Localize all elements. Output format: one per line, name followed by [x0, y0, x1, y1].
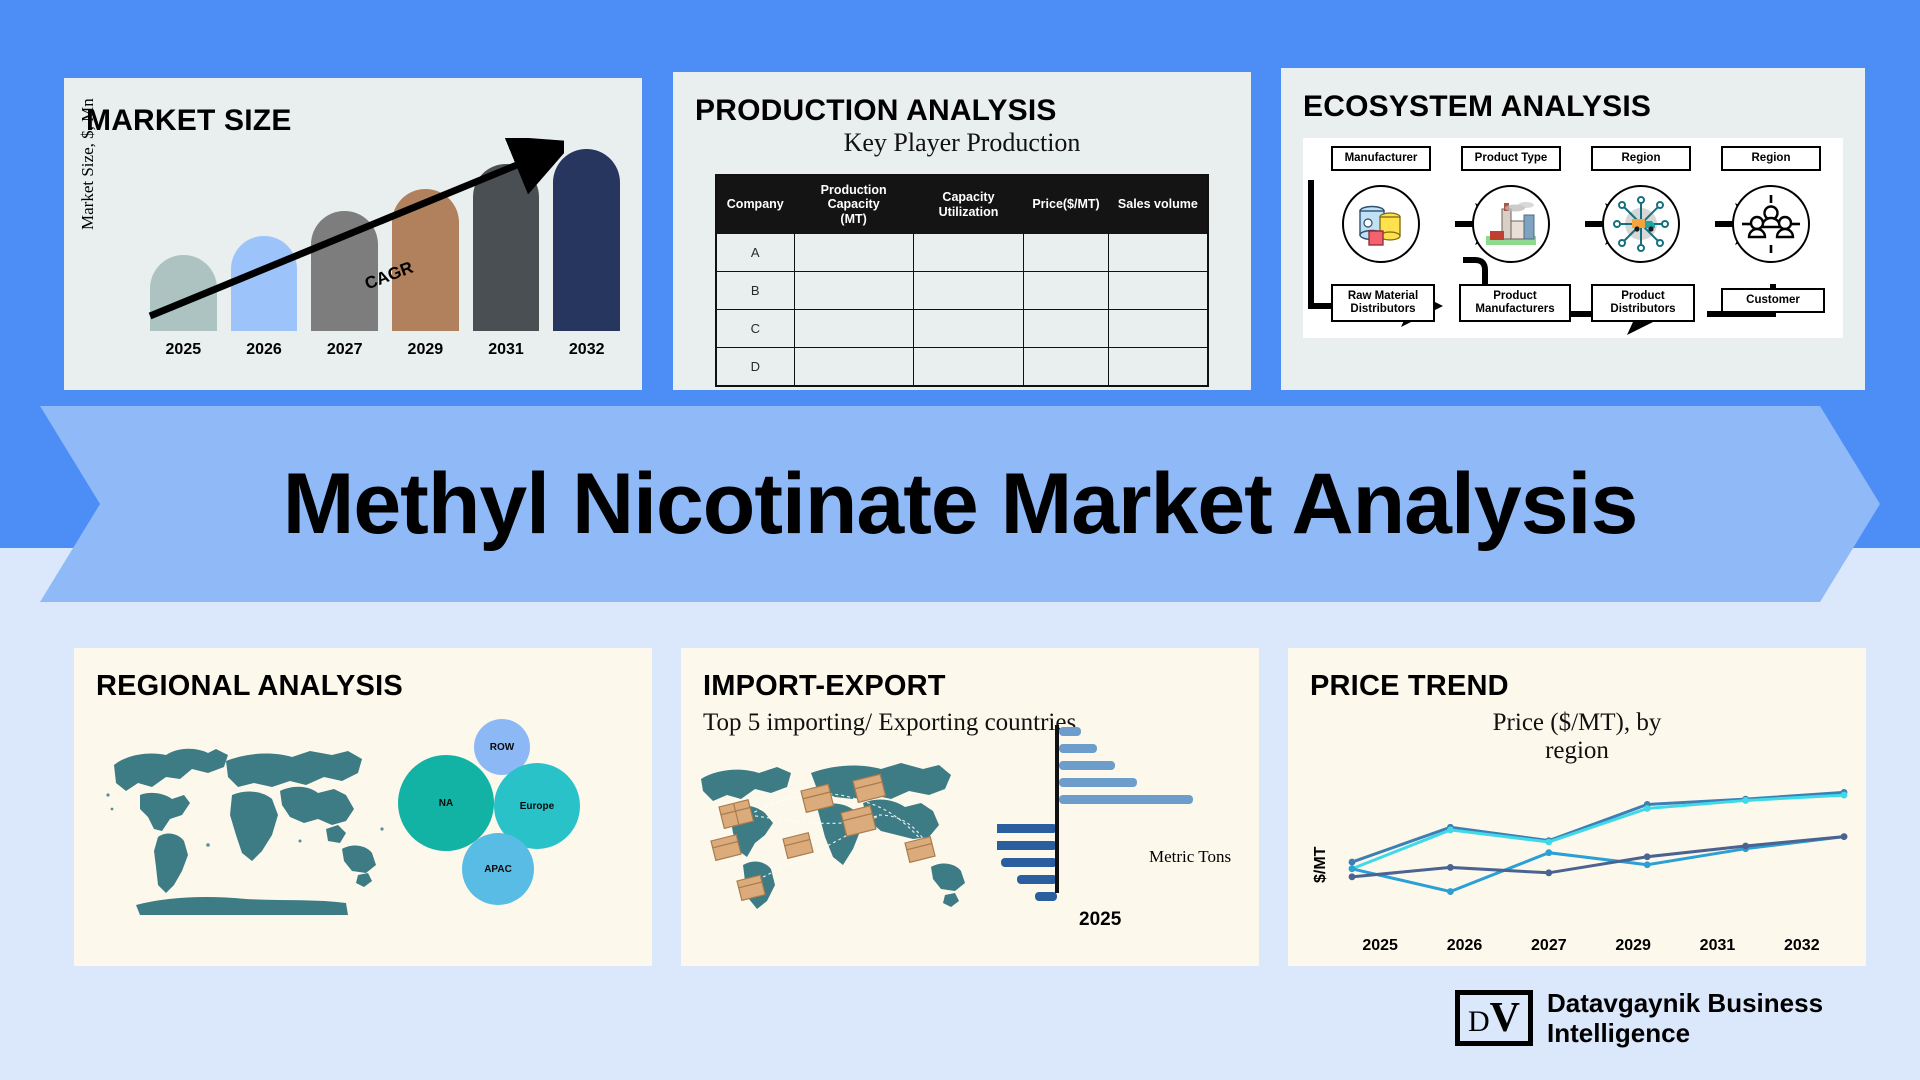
eco-bottom-label-product-manufacturers: ProductManufacturers [1459, 284, 1571, 322]
price-trend-line-chart [1288, 765, 1866, 925]
table-column-header: Capacity Utilization [913, 175, 1024, 234]
main-title-banner: Methyl Nicotinate Market Analysis [40, 406, 1880, 602]
export-bar [997, 841, 1057, 850]
market-size-y-axis-label: Market Size, $, Mn [78, 98, 98, 230]
market-size-chart: Market Size, $, Mn CAGR 2025202620272029… [64, 138, 642, 363]
factory-icon [1472, 185, 1550, 263]
eco-bottom-label-product-distributors: ProductDistributors [1591, 284, 1695, 322]
eco-top-label-region-1: Region [1591, 146, 1691, 171]
export-bar [1035, 892, 1057, 901]
production-analysis-subtitle: Key Player Production [673, 128, 1251, 158]
table-column-header: Company [716, 175, 794, 234]
table-cell-capacity [794, 272, 913, 310]
table-cell-capacity [794, 348, 913, 386]
eco-bottom-label-customer: Customer [1721, 288, 1825, 313]
export-bar [1017, 875, 1057, 884]
table-cell-utilization [913, 234, 1024, 272]
table-cell-volume [1108, 310, 1208, 348]
import-bar [1059, 761, 1115, 770]
price-point [1545, 869, 1552, 876]
price-point [1742, 843, 1749, 850]
import-export-title: IMPORT-EXPORT [703, 670, 1259, 703]
market-size-bars [150, 149, 620, 331]
table-cell-utilization [913, 310, 1024, 348]
table-column-header: Production Capacity(MT) [794, 175, 913, 234]
price-point [1644, 861, 1651, 868]
price-point [1447, 827, 1454, 834]
ecosystem-diagram: Manufacturer Product Type Region Region [1303, 138, 1843, 338]
import-export-body: Metric Tons 2025 [681, 737, 1259, 927]
price-trend-x-label: 2027 [1507, 937, 1591, 955]
import-bar [1059, 727, 1081, 736]
table-row: D [716, 348, 1208, 386]
production-analysis-title: PRODUCTION ANALYSIS [695, 94, 1251, 128]
table-cell-volume [1108, 348, 1208, 386]
price-trend-x-label: 2032 [1760, 937, 1844, 955]
company-name: Datavgaynik BusinessIntelligence [1547, 988, 1823, 1048]
regional-analysis-body: NAROWEuropeAPAC [74, 703, 652, 933]
table-cell-volume [1108, 272, 1208, 310]
price-point [1841, 792, 1848, 799]
import-bar [1059, 795, 1193, 804]
table-header-row: CompanyProduction Capacity(MT)Capacity U… [716, 175, 1208, 234]
table-cell-price [1024, 348, 1109, 386]
key-player-production-table: CompanyProduction Capacity(MT)Capacity U… [715, 174, 1209, 387]
company-logo: DV Datavgaynik BusinessIntelligence [1455, 988, 1823, 1048]
eco-top-label-manufacturer: Manufacturer [1331, 146, 1431, 171]
export-bar [997, 824, 1057, 833]
region-bubble-chart: NAROWEuropeAPAC [398, 719, 608, 915]
table-row: A [716, 234, 1208, 272]
price-trend-x-label: 2029 [1591, 937, 1675, 955]
table-cell-utilization [913, 348, 1024, 386]
import-export-card: IMPORT-EXPORT Top 5 importing/ Exporting… [681, 648, 1259, 966]
price-point [1644, 853, 1651, 860]
table-cell-capacity [794, 234, 913, 272]
market-size-x-axis-labels: 202520262027202920312032 [150, 341, 620, 359]
table-cell-company: C [716, 310, 794, 348]
market-size-title: MARKET SIZE [86, 104, 642, 138]
market-size-x-label: 2032 [553, 341, 620, 359]
price-trend-subtitle: Price ($/MT), by region [1288, 709, 1866, 765]
price-point [1349, 865, 1356, 872]
table-cell-price [1024, 310, 1109, 348]
eco-top-label-product-type: Product Type [1461, 146, 1561, 171]
price-trend-x-label: 2025 [1338, 937, 1422, 955]
table-row: C [716, 310, 1208, 348]
dv-logo-mark: DV [1455, 990, 1533, 1046]
table-row: B [716, 272, 1208, 310]
market-size-x-label: 2031 [473, 341, 540, 359]
market-size-bar [150, 255, 217, 331]
customers-icon [1732, 185, 1810, 263]
market-size-x-label: 2029 [392, 341, 459, 359]
price-trend-x-label: 2031 [1675, 937, 1759, 955]
table-body: ABCD [716, 234, 1208, 386]
market-size-card: MARKET SIZE Market Size, $, Mn CAGR 2025… [64, 78, 642, 390]
table-cell-price [1024, 234, 1109, 272]
table-cell-price [1024, 272, 1109, 310]
market-size-bar [311, 211, 378, 331]
table-cell-capacity [794, 310, 913, 348]
market-size-bar [473, 164, 540, 331]
market-size-x-label: 2026 [231, 341, 298, 359]
price-point [1742, 797, 1749, 804]
table-cell-volume [1108, 234, 1208, 272]
table-cell-company: D [716, 348, 794, 386]
price-point [1447, 888, 1454, 895]
table-cell-company: A [716, 234, 794, 272]
market-size-bar [553, 149, 620, 331]
ecosystem-analysis-title: ECOSYSTEM ANALYSIS [1303, 90, 1865, 124]
regional-analysis-card: REGIONAL ANALYSIS NAROWEuropeAPAC [74, 648, 652, 966]
distribution-network-icon [1602, 185, 1680, 263]
price-point [1545, 839, 1552, 846]
import-bar [1059, 744, 1097, 753]
price-trend-card: PRICE TREND Price ($/MT), by region $/MT… [1288, 648, 1866, 966]
price-point [1545, 849, 1552, 856]
table-column-header: Price($/MT) [1024, 175, 1109, 234]
price-point [1349, 859, 1356, 866]
price-point [1447, 864, 1454, 871]
metric-tons-label: Metric Tons [1149, 847, 1231, 867]
import-bar [1059, 778, 1137, 787]
price-point [1349, 873, 1356, 880]
market-size-bar [231, 236, 298, 331]
eco-bottom-label-raw-material-distributors: Raw MaterialDistributors [1331, 284, 1435, 322]
price-line-series-steel-blue [1352, 792, 1844, 862]
export-bar [1001, 858, 1057, 867]
region-bubble-apac: APAC [462, 833, 534, 905]
production-analysis-card: PRODUCTION ANALYSIS Key Player Productio… [673, 72, 1251, 390]
trade-route-map-icon [693, 745, 993, 921]
market-size-x-label: 2025 [150, 341, 217, 359]
table-cell-company: B [716, 272, 794, 310]
table-column-header: Sales volume [1108, 175, 1208, 234]
eco-top-label-region-2: Region [1721, 146, 1821, 171]
page-title: Methyl Nicotinate Market Analysis [283, 455, 1638, 554]
price-trend-x-axis-labels: 202520262027202920312032 [1338, 937, 1844, 955]
regional-analysis-title: REGIONAL ANALYSIS [96, 670, 652, 703]
price-trend-title: PRICE TREND [1310, 670, 1866, 703]
price-trend-x-label: 2026 [1422, 937, 1506, 955]
market-size-x-label: 2027 [311, 341, 378, 359]
price-point [1841, 833, 1848, 840]
table-cell-utilization [913, 272, 1024, 310]
price-line-series-slate [1352, 837, 1844, 877]
barrels-icon [1342, 185, 1420, 263]
import-export-tornado-chart [997, 721, 1217, 911]
price-trend-body: $/MT 202520262027202920312032 [1288, 765, 1866, 961]
world-map-icon [96, 725, 396, 925]
import-export-year-label: 2025 [1079, 909, 1121, 931]
ecosystem-analysis-card: ECOSYSTEM ANALYSIS Manufacturer Product … [1281, 68, 1865, 390]
price-point [1644, 805, 1651, 812]
